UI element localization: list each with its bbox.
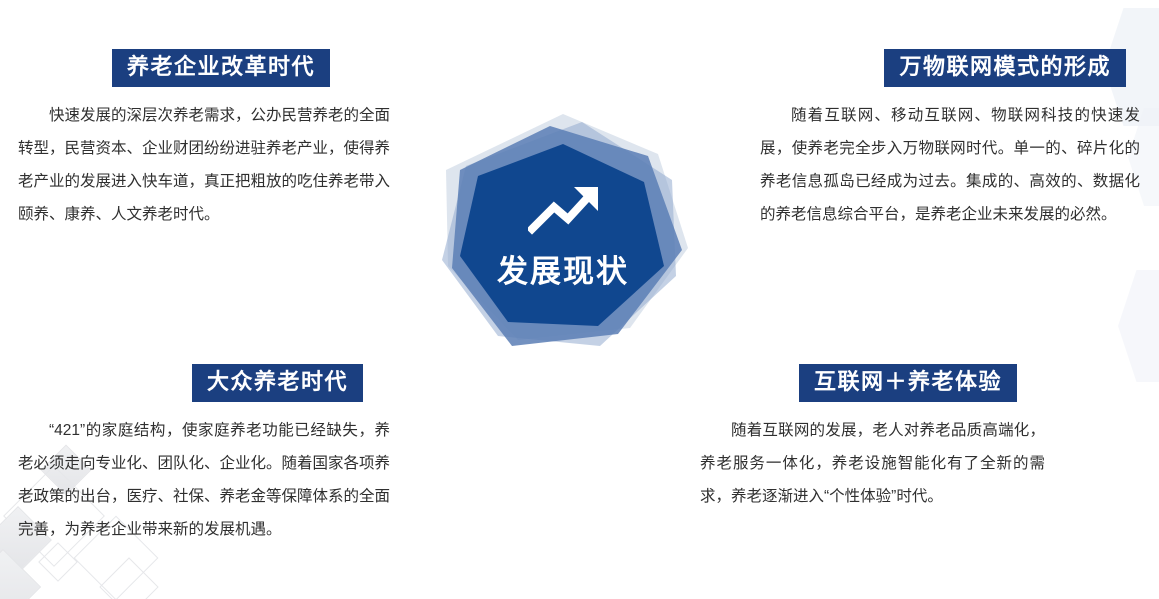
slide-canvas: 发展现状 养老企业改革时代 快速发展的深层次养老需求，公办民营养老的全面转型，民… — [0, 0, 1159, 599]
content-block-top-left: 养老企业改革时代 快速发展的深层次养老需求，公办民营养老的全面转型，民营资本、企… — [18, 50, 390, 231]
growth-arrow-icon — [528, 183, 606, 235]
section-body-text: 快速发展的深层次养老需求，公办民营养老的全面转型，民营资本、企业财团纷纷进驻养老… — [18, 99, 390, 231]
content-block-top-right: 万物联网模式的形成 随着互联网、移动互联网、物联网科技的快速发展，使养老完全步入… — [760, 50, 1140, 231]
section-body-text: “421”的家庭结构，使家庭养老功能已经缺失，养老必须走向专业化、团队化、企业化… — [18, 414, 390, 546]
center-emblem-label: 发展现状 — [432, 256, 694, 287]
content-block-bottom-left: 大众养老时代 “421”的家庭结构，使家庭养老功能已经缺失，养老必须走向专业化、… — [18, 365, 390, 546]
content-block-bottom-right: 互联网＋养老体验 随着互联网的发展，老人对养老品质高端化，养老服务一体化，养老设… — [700, 365, 1045, 513]
section-title-badge[interactable]: 互联网＋养老体验 — [800, 365, 1016, 401]
badge-row: 互联网＋养老体验 — [700, 365, 1045, 401]
section-title-badge[interactable]: 养老企业改革时代 — [113, 50, 329, 86]
decor-diamond — [38, 542, 78, 582]
badge-row: 万物联网模式的形成 — [760, 50, 1140, 86]
section-title-badge[interactable]: 万物联网模式的形成 — [885, 50, 1125, 86]
decor-diamond — [99, 557, 158, 599]
badge-row: 养老企业改革时代 — [18, 50, 390, 86]
section-body-text: 随着互联网的发展，老人对养老品质高端化，养老服务一体化，养老设施智能化有了全新的… — [700, 414, 1045, 513]
decor-diamond — [0, 549, 41, 599]
decor-hexagon — [1118, 270, 1159, 382]
badge-row: 大众养老时代 — [18, 365, 390, 401]
section-body-text: 随着互联网、移动互联网、物联网科技的快速发展，使养老完全步入万物联网时代。单一的… — [760, 99, 1140, 231]
center-emblem: 发展现状 — [432, 108, 694, 370]
section-title-badge[interactable]: 大众养老时代 — [193, 365, 362, 401]
